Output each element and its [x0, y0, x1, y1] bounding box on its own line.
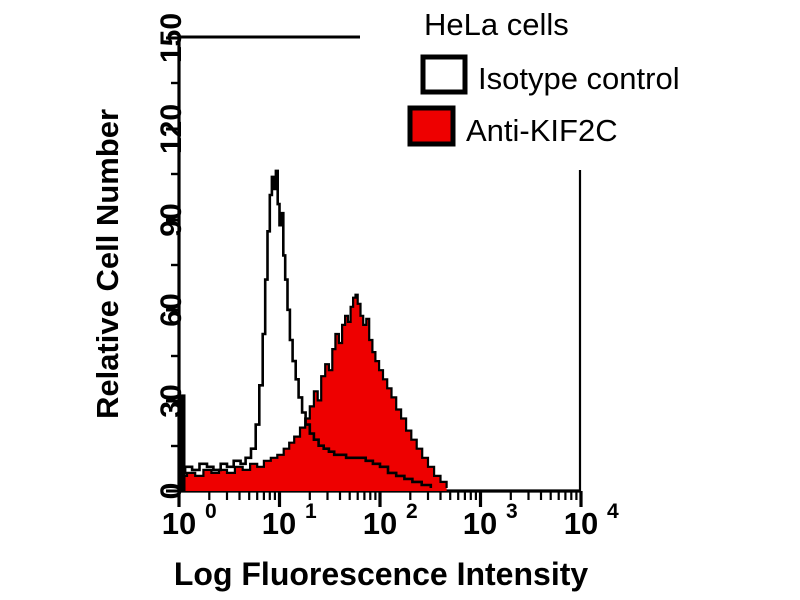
- x-tick-exponent: 4: [607, 500, 619, 523]
- off-scale-events-bar: [180, 394, 186, 491]
- legend-title: HeLa cells: [424, 7, 569, 42]
- svg-text:10: 10: [564, 506, 598, 541]
- x-tick-exponent: 2: [406, 500, 418, 523]
- svg-text:10: 10: [162, 506, 196, 541]
- svg-text:10: 10: [363, 506, 397, 541]
- legend-swatch-isotype: [423, 57, 465, 92]
- legend-label-antibody: Anti-KIF2C: [466, 113, 618, 148]
- legend-label-isotype: Isotype control: [478, 61, 680, 96]
- x-axis-title: Log Fluorescence Intensity: [174, 556, 589, 592]
- flow-cytometry-histogram: 150 120 90 60 30 0 Relative Cell Number …: [0, 0, 800, 600]
- y-tick-label: 150: [155, 13, 188, 63]
- x-tick-exponent: 1: [305, 500, 317, 523]
- y-tick-label: 90: [155, 203, 188, 236]
- y-tick-label: 60: [155, 293, 188, 326]
- legend-swatch-antibody: [410, 108, 453, 144]
- svg-text:10: 10: [463, 506, 497, 541]
- x-tick-exponent: 0: [205, 500, 217, 523]
- x-tick-exponent: 3: [506, 500, 518, 523]
- y-axis-title: Relative Cell Number: [90, 109, 125, 419]
- y-tick-label: 120: [155, 104, 188, 154]
- svg-text:10: 10: [262, 506, 296, 541]
- chart-canvas: 150 120 90 60 30 0 Relative Cell Number …: [0, 0, 800, 600]
